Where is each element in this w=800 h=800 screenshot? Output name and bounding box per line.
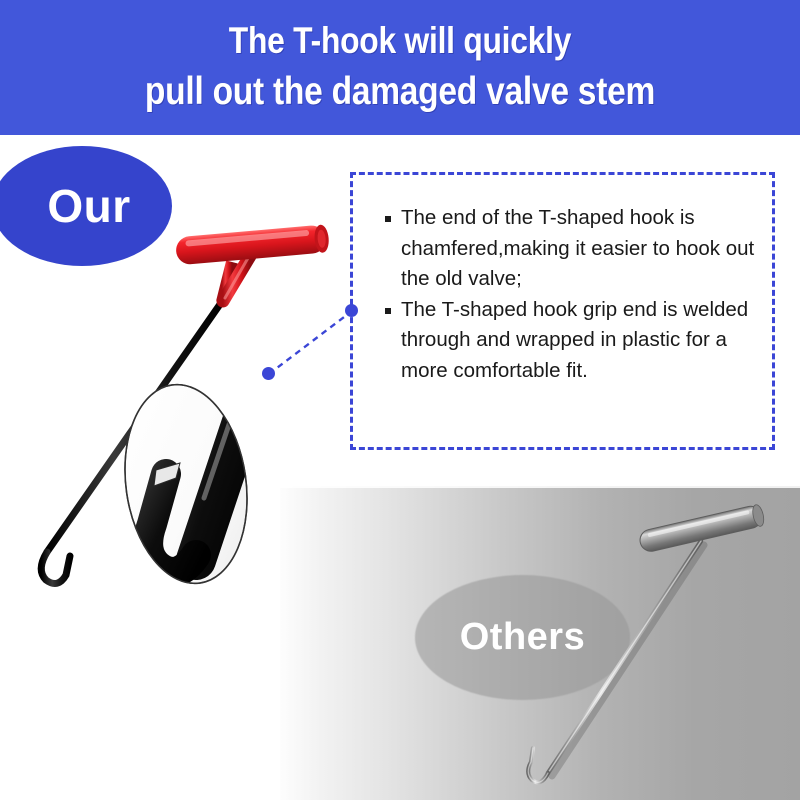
hook-closeup-magnifier — [113, 377, 260, 592]
red-tool-hook-tip — [41, 552, 70, 584]
red-tool-shaft-highlight — [225, 258, 248, 298]
magnifier-rim — [113, 377, 260, 592]
red-tool-black-shaft — [47, 300, 223, 552]
feature-bullet-list: The end of the T-shaped hook is chamfere… — [385, 203, 765, 386]
our-badge-label: Our — [0, 146, 172, 266]
others-panel-top-edge — [280, 486, 800, 488]
others-badge-label: Others — [415, 575, 630, 700]
magnified-shaft-highlight — [204, 404, 236, 498]
feature-bullet-2: The T-shaped hook grip end is welded thr… — [385, 295, 765, 387]
callout-anchor-dot-tool — [262, 367, 275, 380]
red-tool-red-shaft — [223, 256, 250, 301]
feature-callout-box: The end of the T-shaped hook is chamfere… — [350, 172, 775, 450]
magnified-hook-curve — [148, 474, 196, 572]
banner-headline-line-1: The T-hook will quickly — [56, 20, 744, 62]
feature-bullet-1: The end of the T-shaped hook is chamfere… — [385, 203, 765, 295]
callout-anchor-dot-box — [345, 304, 358, 317]
red-tool-t-handle — [175, 224, 330, 265]
chamfered-tip-face — [154, 463, 180, 486]
infographic-page: The T-hook will quickly pull out the dam… — [0, 0, 800, 800]
our-badge-ellipse: Our — [0, 146, 172, 266]
banner-headline-line-2: pull out the damaged valve stem — [56, 70, 744, 114]
red-tool-upper-shaft-joint — [222, 262, 232, 302]
header-banner: The T-hook will quickly pull out the dam… — [0, 0, 800, 135]
magnified-shaft — [196, 392, 252, 560]
